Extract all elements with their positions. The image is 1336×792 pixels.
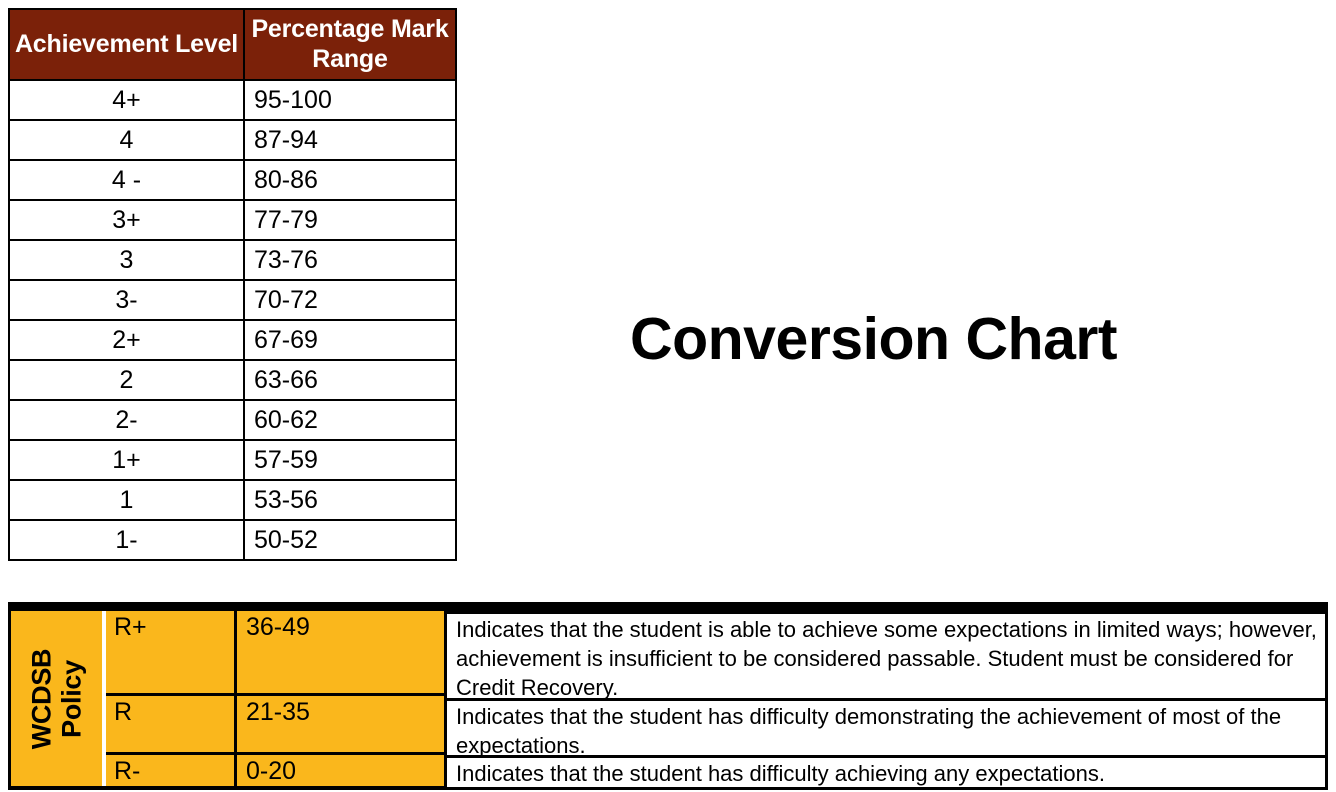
cell-percentage-range: 70-72 bbox=[244, 280, 456, 320]
cell-achievement-level: 2- bbox=[9, 400, 244, 440]
cell-percentage-range: 95-100 bbox=[244, 80, 456, 120]
policy-label-line-1: WCDSB bbox=[27, 648, 57, 749]
policy-label-line-2: Policy bbox=[57, 660, 87, 738]
policy-vertical-label-text: WCDSB Policy bbox=[27, 648, 87, 749]
table-row: 4+95-100 bbox=[9, 80, 456, 120]
cell-achievement-level: 1- bbox=[9, 520, 244, 560]
table-row: 153-56 bbox=[9, 480, 456, 520]
cell-achievement-level: 4 bbox=[9, 120, 244, 160]
cell-percentage-range: 60-62 bbox=[244, 400, 456, 440]
cell-policy-description: Indicates that the student is able to ac… bbox=[447, 614, 1325, 698]
table-row: 263-66 bbox=[9, 360, 456, 400]
cell-percentage-range: 67-69 bbox=[244, 320, 456, 360]
cell-percentage-range: 80-86 bbox=[244, 160, 456, 200]
policy-rows: R+36-49R21-35R-0-20 bbox=[106, 611, 444, 786]
cell-achievement-level: 3- bbox=[9, 280, 244, 320]
cell-policy-level: R+ bbox=[106, 611, 237, 693]
cell-achievement-level: 2+ bbox=[9, 320, 244, 360]
table-row: 3+77-79 bbox=[9, 200, 456, 240]
cell-policy-level: R bbox=[106, 696, 237, 752]
policy-row: R-0-20 bbox=[106, 752, 444, 786]
table-row: 1+57-59 bbox=[9, 440, 456, 480]
cell-percentage-range: 73-76 bbox=[244, 240, 456, 280]
cell-achievement-level: 3 bbox=[9, 240, 244, 280]
table-body: 4+95-100487-944 -80-863+77-79373-763-70-… bbox=[9, 80, 456, 560]
cell-policy-range: 36-49 bbox=[237, 611, 444, 693]
policy-levels-panel: WCDSB Policy R+36-49R21-35R-0-20 bbox=[8, 611, 447, 790]
cell-percentage-range: 87-94 bbox=[244, 120, 456, 160]
policy-descriptions-panel: Indicates that the student is able to ac… bbox=[447, 611, 1328, 790]
table-row: 4 -80-86 bbox=[9, 160, 456, 200]
cell-policy-level: R- bbox=[106, 755, 237, 786]
table-row: 3-70-72 bbox=[9, 280, 456, 320]
table-header-row: Achievement Level Percentage Mark Range bbox=[9, 9, 456, 80]
cell-achievement-level: 4 - bbox=[9, 160, 244, 200]
table-row: 2+67-69 bbox=[9, 320, 456, 360]
cell-policy-range: 0-20 bbox=[237, 755, 444, 786]
policy-row: R21-35 bbox=[106, 693, 444, 752]
cell-policy-range: 21-35 bbox=[237, 696, 444, 752]
policy-vertical-label: WCDSB Policy bbox=[11, 611, 106, 786]
table-row: 1-50-52 bbox=[9, 520, 456, 560]
cell-achievement-level: 1 bbox=[9, 480, 244, 520]
cell-percentage-range: 50-52 bbox=[244, 520, 456, 560]
cell-percentage-range: 77-79 bbox=[244, 200, 456, 240]
cell-percentage-range: 63-66 bbox=[244, 360, 456, 400]
page-title: Conversion Chart bbox=[630, 305, 1117, 373]
cell-achievement-level: 4+ bbox=[9, 80, 244, 120]
policy-row: R+36-49 bbox=[106, 611, 444, 693]
achievement-conversion-table: Achievement Level Percentage Mark Range … bbox=[8, 8, 457, 561]
cell-policy-description: Indicates that the student has difficult… bbox=[447, 755, 1325, 787]
column-header-achievement-level: Achievement Level bbox=[9, 9, 244, 80]
table-header: Achievement Level Percentage Mark Range bbox=[9, 9, 456, 80]
table-row: 487-94 bbox=[9, 120, 456, 160]
cell-percentage-range: 53-56 bbox=[244, 480, 456, 520]
cell-achievement-level: 3+ bbox=[9, 200, 244, 240]
cell-policy-description: Indicates that the student has difficult… bbox=[447, 698, 1325, 755]
cell-percentage-range: 57-59 bbox=[244, 440, 456, 480]
column-header-percentage-mark-range: Percentage Mark Range bbox=[244, 9, 456, 80]
table-row: 373-76 bbox=[9, 240, 456, 280]
cell-achievement-level: 2 bbox=[9, 360, 244, 400]
cell-achievement-level: 1+ bbox=[9, 440, 244, 480]
wcdsb-policy-section: WCDSB Policy R+36-49R21-35R-0-20 Indicat… bbox=[8, 602, 1328, 790]
table-row: 2-60-62 bbox=[9, 400, 456, 440]
